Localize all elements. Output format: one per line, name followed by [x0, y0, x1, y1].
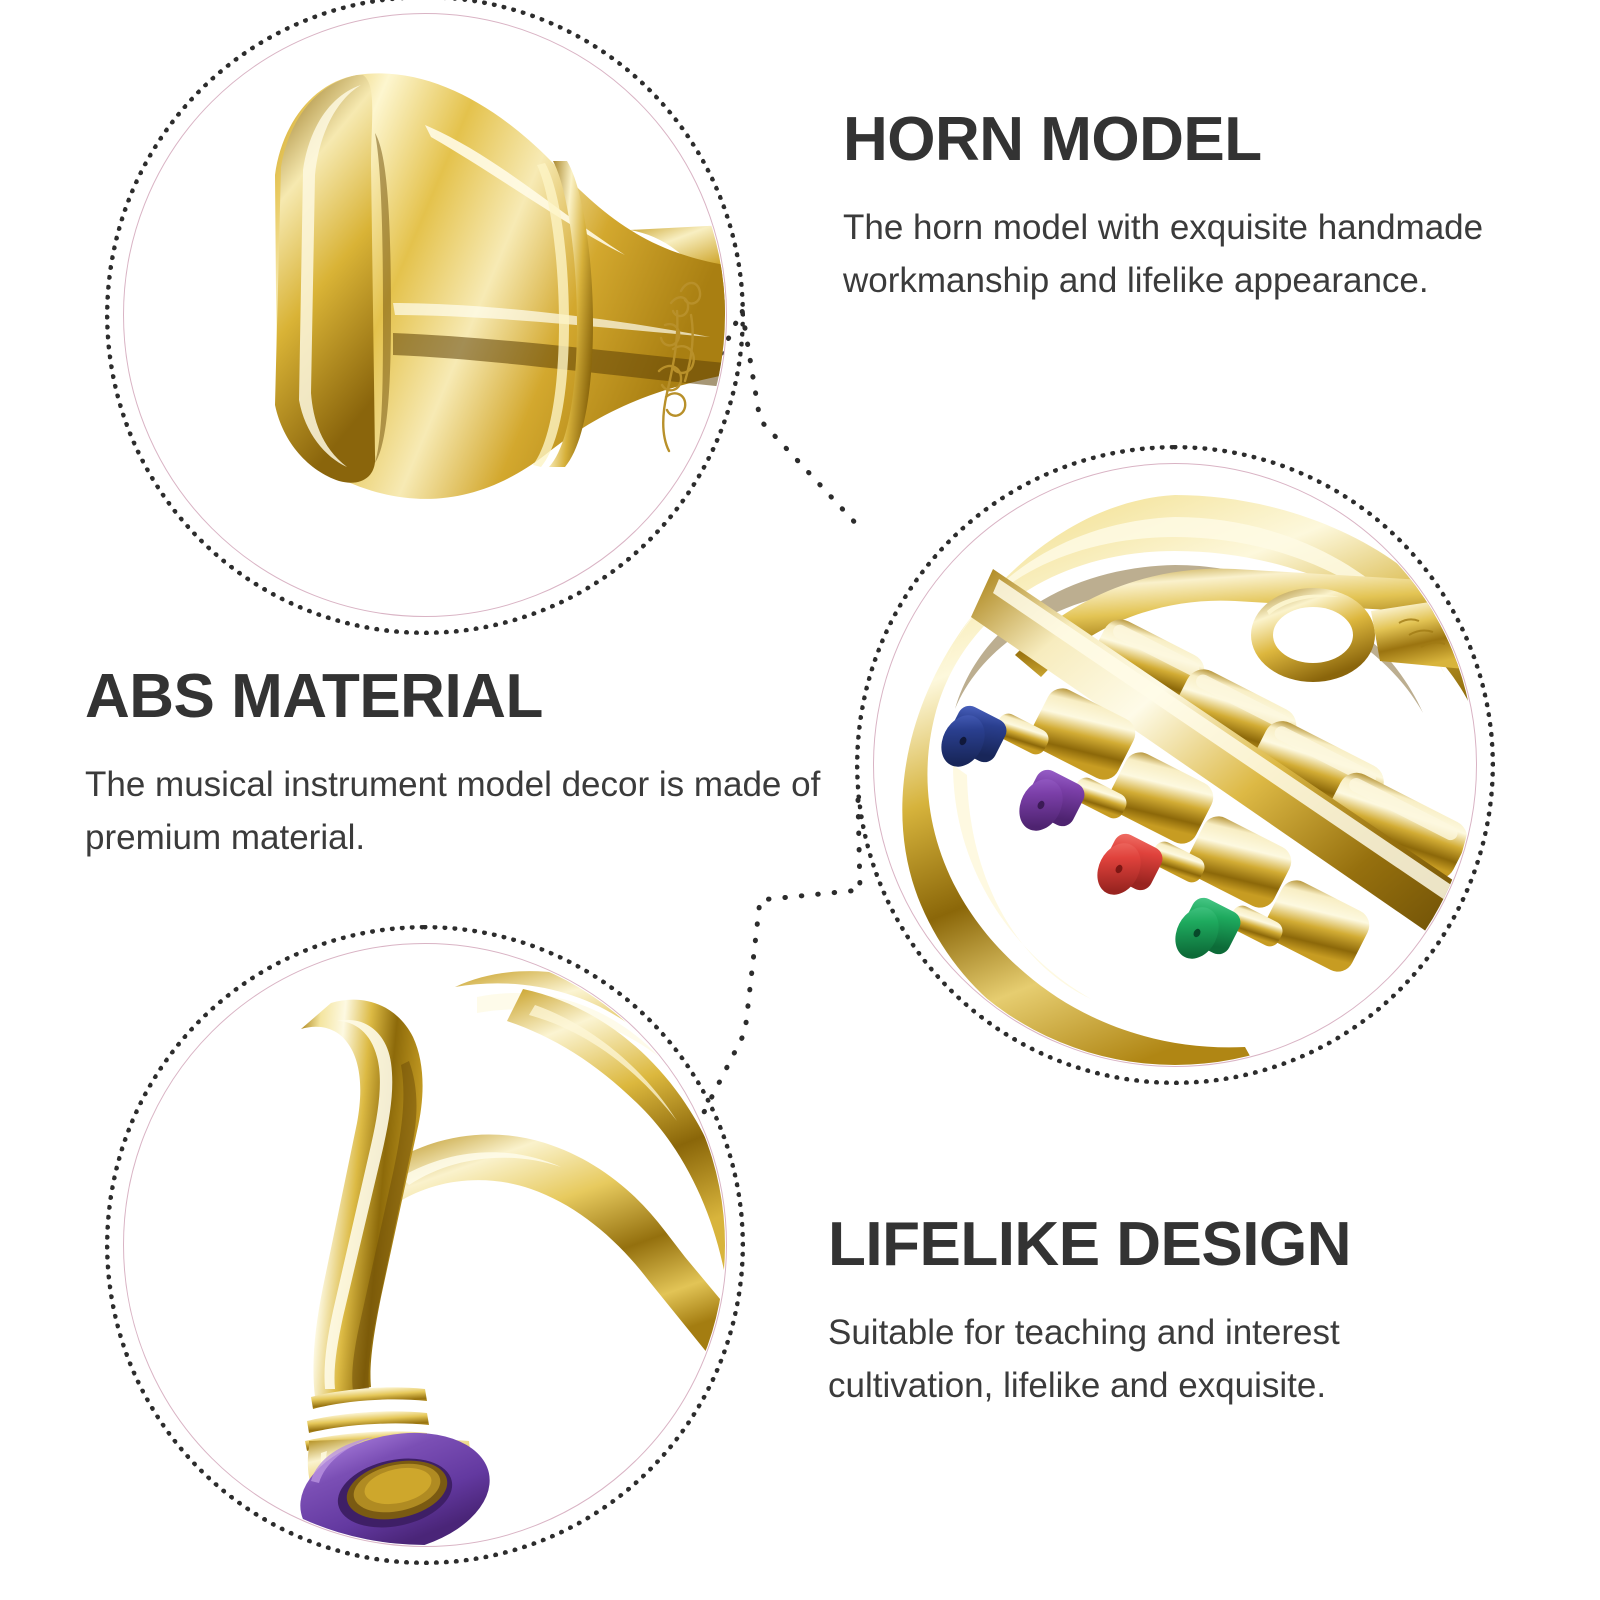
feature-block-horn-model: HORN MODEL The horn model with exquisite…	[843, 108, 1543, 308]
photo-circle-valves	[855, 445, 1495, 1085]
feature-block-lifelike-design: LIFELIKE DESIGN Suitable for teaching an…	[828, 1213, 1508, 1413]
feature-title-abs-material: ABS MATERIAL	[85, 665, 825, 728]
product-infographic: HORN MODEL The horn model with exquisite…	[0, 0, 1600, 1600]
circle-dotted-outline-valves	[855, 445, 1495, 1085]
feature-title-lifelike-design: LIFELIKE DESIGN	[828, 1213, 1508, 1276]
feature-description-abs-material: The musical instrument model decor is ma…	[85, 758, 825, 864]
photo-circle-mouthpiece	[105, 925, 745, 1565]
photo-circle-bell	[105, 0, 745, 635]
feature-description-lifelike-design: Suitable for teaching and interest culti…	[828, 1306, 1508, 1412]
feature-description-horn-model: The horn model with exquisite handmade w…	[843, 201, 1543, 307]
feature-block-abs-material: ABS MATERIAL The musical instrument mode…	[85, 665, 825, 865]
circle-dotted-outline-mouthpiece	[105, 925, 745, 1565]
feature-title-horn-model: HORN MODEL	[843, 108, 1543, 171]
circle-dotted-outline-bell	[105, 0, 745, 635]
